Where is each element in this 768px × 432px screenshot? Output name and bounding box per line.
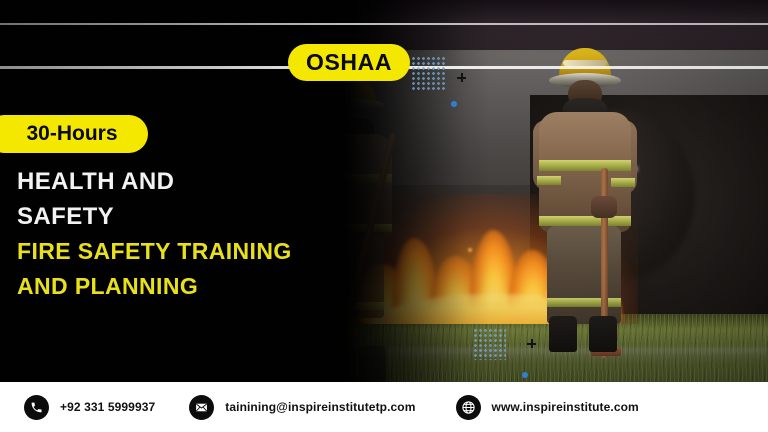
dot-grid-decoration [473, 328, 506, 360]
promo-banner: OSHAA 30-Hours HEALTH AND SAFETY FIRE SA… [0, 0, 768, 432]
dot-grid-decoration [411, 56, 445, 90]
course-duration-label: 30-Hours [16, 122, 117, 146]
course-subheading-line-2: AND PLANNING [17, 269, 357, 304]
contact-website[interactable]: www.inspireinstitute.com [456, 395, 639, 420]
phone-number: +92 331 5999937 [60, 400, 155, 414]
oshaa-brand-badge: OSHAA [288, 44, 410, 81]
globe-icon [456, 395, 481, 420]
contact-email[interactable]: tainining@inspireinstitutetp.com [189, 395, 415, 420]
divider-line-top [0, 23, 768, 25]
course-subheading-line-1: FIRE SAFETY TRAINING [17, 234, 357, 269]
course-heading-line-1: HEALTH AND [17, 164, 357, 199]
phone-icon [24, 395, 49, 420]
oshaa-brand-label: OSHAA [306, 49, 392, 76]
course-title-block: HEALTH AND SAFETY FIRE SAFETY TRAINING A… [17, 164, 357, 304]
blue-dot-decoration [451, 101, 457, 107]
course-heading-line-2: SAFETY [17, 199, 357, 234]
email-address: tainining@inspireinstitutetp.com [225, 400, 415, 414]
plus-marker-icon [457, 73, 466, 82]
course-duration-badge: 30-Hours [0, 115, 148, 153]
envelope-icon [189, 395, 214, 420]
contact-phone[interactable]: +92 331 5999937 [24, 395, 155, 420]
blue-dot-decoration [522, 372, 528, 378]
website-url: www.inspireinstitute.com [492, 400, 639, 414]
contact-footer: +92 331 5999937 tainining@inspireinstitu… [0, 382, 768, 432]
plus-marker-icon [527, 339, 536, 348]
